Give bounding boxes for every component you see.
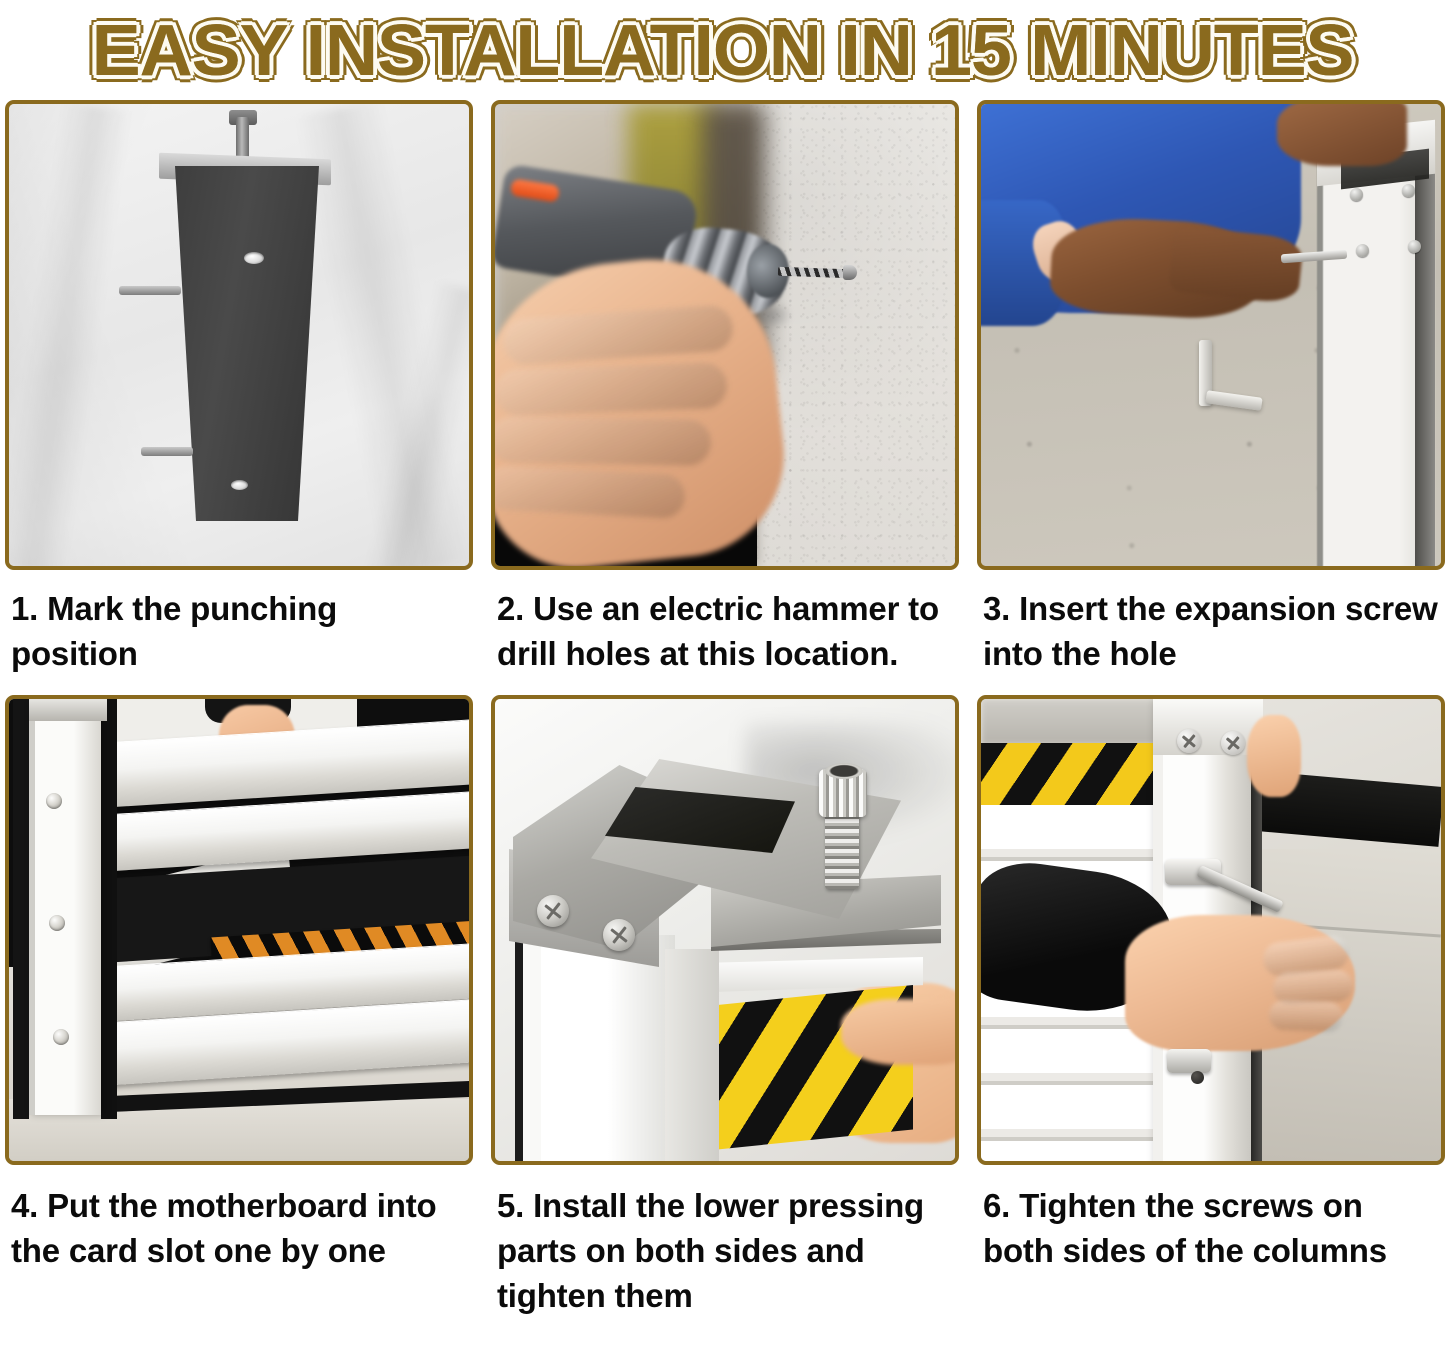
finger bbox=[1268, 1000, 1343, 1033]
tightening-bolt-socket bbox=[825, 763, 863, 779]
column-dark-face bbox=[1415, 126, 1435, 566]
step-4-scene bbox=[9, 699, 469, 1161]
column-screw bbox=[1356, 244, 1369, 257]
column-bolt bbox=[53, 1029, 69, 1045]
step-3-caption: 3. Insert the expansion screw into the h… bbox=[977, 570, 1445, 676]
worker-second-hand bbox=[1277, 104, 1407, 166]
column-screw bbox=[1408, 240, 1421, 253]
column-screw bbox=[1402, 184, 1415, 197]
phillips-screw bbox=[1221, 731, 1245, 755]
template-marking-hole-upper bbox=[244, 252, 264, 264]
step-5-photo bbox=[491, 695, 959, 1165]
barrier-column bbox=[523, 935, 675, 1161]
wall-surface bbox=[750, 104, 955, 566]
step-1-photo bbox=[5, 100, 473, 570]
step-1-caption: 1. Mark the punching position bbox=[5, 570, 473, 676]
step-5-scene bbox=[495, 699, 955, 1161]
phillips-screw bbox=[603, 919, 635, 951]
step-5-cell: 5. Install the lower pressing parts on b… bbox=[491, 695, 959, 1318]
page-title: EASY INSTALLATION IN 15 MINUTES bbox=[92, 15, 1354, 87]
step-3-photo bbox=[977, 100, 1445, 570]
column-fitting-lower bbox=[1167, 1049, 1211, 1073]
column-side-face bbox=[665, 949, 719, 1161]
steps-row-1: 1. Mark the punching position bbox=[5, 100, 1440, 676]
drill-bit-tip bbox=[843, 265, 857, 280]
step-4-caption: 4. Put the motherboard into the card slo… bbox=[5, 1165, 473, 1273]
column-fitting-bolt bbox=[1191, 1071, 1204, 1084]
step-4-cell: 4. Put the motherboard into the card slo… bbox=[5, 695, 473, 1318]
step-6-cell: 6. Tighten the screws on both sides of t… bbox=[977, 695, 1445, 1318]
step-1-scene bbox=[9, 104, 469, 566]
upper-blur-area bbox=[981, 699, 1161, 745]
step-6-scene bbox=[981, 699, 1441, 1161]
hazard-stripe-tape bbox=[981, 743, 1157, 811]
installation-steps-grid: 1. Mark the punching position bbox=[0, 100, 1445, 1318]
barrier-column bbox=[29, 699, 101, 1115]
step-6-photo bbox=[977, 695, 1445, 1165]
step-2-caption: 2. Use an electric hammer to drill holes… bbox=[491, 570, 959, 676]
worker-thumb bbox=[1247, 715, 1301, 797]
column-left-edge bbox=[13, 699, 29, 1119]
template-marking-hole-lower bbox=[231, 480, 248, 490]
column-bolt bbox=[46, 793, 62, 809]
template-bolt-shaft bbox=[236, 117, 249, 161]
column-bolt bbox=[49, 915, 65, 931]
phillips-screw bbox=[537, 895, 569, 927]
header-banner: EASY INSTALLATION IN 15 MINUTES bbox=[0, 0, 1445, 100]
column-cap bbox=[29, 699, 107, 721]
step-3-cell: 3. Insert the expansion screw into the h… bbox=[977, 100, 1445, 676]
steps-row-2: 4. Put the motherboard into the card slo… bbox=[5, 695, 1440, 1318]
step-3-scene bbox=[981, 104, 1441, 566]
template-pin-upper bbox=[119, 286, 181, 295]
step-1-cell: 1. Mark the punching position bbox=[5, 100, 473, 676]
template-pin-lower bbox=[141, 447, 193, 456]
tightening-bolt-thread bbox=[825, 809, 859, 889]
phillips-screw bbox=[1177, 729, 1201, 753]
step-5-caption: 5. Install the lower pressing parts on b… bbox=[491, 1165, 959, 1318]
column-slot-shadow bbox=[101, 699, 117, 1119]
step-2-scene bbox=[495, 104, 955, 566]
step-2-photo bbox=[491, 100, 959, 570]
worker-fingers bbox=[841, 999, 955, 1065]
finger bbox=[495, 362, 728, 416]
finger bbox=[495, 416, 711, 466]
step-6-caption: 6. Tighten the screws on both sides of t… bbox=[977, 1165, 1445, 1273]
step-2-cell: 2. Use an electric hammer to drill holes… bbox=[491, 100, 959, 676]
step-4-photo bbox=[5, 695, 473, 1165]
column-screw bbox=[1350, 188, 1363, 201]
